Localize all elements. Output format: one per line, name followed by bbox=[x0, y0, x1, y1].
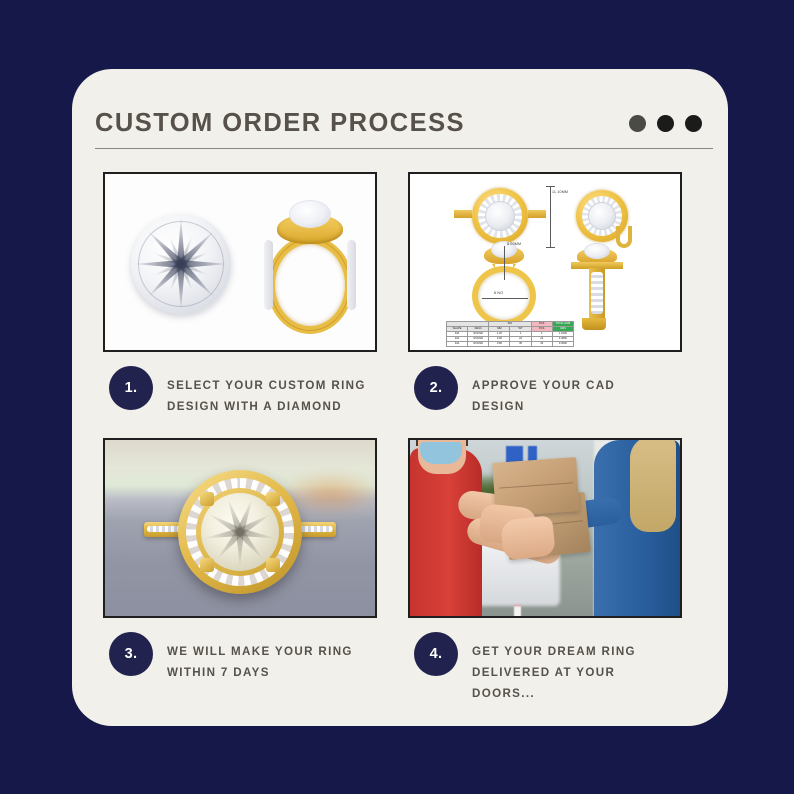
cad-table-row: DIA ROUND 0.80 36 36 0.3600 bbox=[447, 342, 574, 347]
step-2-thumbnail[interactable]: 11.10MM bbox=[408, 172, 682, 352]
cad-design-image: 11.10MM bbox=[410, 174, 680, 350]
step-2-text: APPROVE YOUR CAD DESIGN bbox=[472, 366, 672, 417]
step-2-label-row: 2. APPROVE YOUR CAD DESIGN bbox=[408, 366, 682, 417]
step-4-badge: 4. bbox=[414, 632, 458, 676]
step-4[interactable]: 4. GET YOUR DREAM RING DELIVERED AT YOUR… bbox=[408, 438, 682, 704]
step-1-badge: 1. bbox=[109, 366, 153, 410]
gold-ring-profile-icon bbox=[255, 196, 365, 336]
step-1-label-row: 1. SELECT YOUR CUSTOM RING DESIGN WITH A… bbox=[103, 366, 377, 417]
step-3-thumbnail[interactable] bbox=[103, 438, 377, 618]
window-dot-3-icon[interactable] bbox=[685, 115, 702, 132]
card-header: CUSTOM ORDER PROCESS bbox=[95, 96, 713, 150]
step-1-thumbnail[interactable] bbox=[103, 172, 377, 352]
diamond-and-ring-image bbox=[105, 174, 375, 350]
window-dot-2-icon[interactable] bbox=[657, 115, 674, 132]
window-dot-1-icon[interactable] bbox=[629, 115, 646, 132]
cad-top-view-icon bbox=[472, 188, 528, 244]
step-1[interactable]: 1. SELECT YOUR CUSTOM RING DESIGN WITH A… bbox=[103, 172, 377, 417]
step-3[interactable]: 3. WE WILL MAKE YOUR RING WITHIN 7 DAYS bbox=[103, 438, 377, 704]
cad-dimension-label-3: 8 NO bbox=[494, 291, 503, 295]
cad-front-view-icon bbox=[568, 248, 626, 332]
custom-order-process-card: CUSTOM ORDER PROCESS bbox=[72, 69, 728, 726]
step-4-label-row: 4. GET YOUR DREAM RING DELIVERED AT YOUR… bbox=[408, 632, 682, 704]
cad-dimension-label-1: 11.10MM bbox=[552, 190, 568, 194]
cad-spec-table: DIA PCS TOTAL GMS SHAPE DESC MM WT PCS G… bbox=[446, 321, 574, 347]
cad-dimension-label-2: 8.00MM bbox=[507, 242, 521, 246]
finished-ring-photo bbox=[105, 440, 375, 616]
header-divider bbox=[95, 148, 713, 149]
step-4-text: GET YOUR DREAM RING DELIVERED AT YOUR DO… bbox=[472, 632, 672, 704]
cad-dimension-line-vertical bbox=[550, 186, 551, 248]
window-dots-group bbox=[629, 115, 713, 132]
step-1-text: SELECT YOUR CUSTOM RING DESIGN WITH A DI… bbox=[167, 366, 367, 417]
step-4-thumbnail[interactable] bbox=[408, 438, 682, 618]
customer-hand bbox=[500, 515, 556, 560]
step-3-text: WE WILL MAKE YOUR RING WITHIN 7 DAYS bbox=[167, 632, 367, 683]
loose-diamond-icon bbox=[131, 214, 231, 314]
halo-ring-icon bbox=[178, 470, 302, 594]
page-title: CUSTOM ORDER PROCESS bbox=[95, 109, 465, 138]
step-3-badge: 3. bbox=[109, 632, 153, 676]
delivery-handoff-photo bbox=[410, 440, 680, 616]
steps-grid: 1. SELECT YOUR CUSTOM RING DESIGN WITH A… bbox=[103, 172, 703, 704]
step-2-badge: 2. bbox=[414, 366, 458, 410]
step-2[interactable]: 11.10MM bbox=[408, 172, 682, 417]
step-3-label-row: 3. WE WILL MAKE YOUR RING WITHIN 7 DAYS bbox=[103, 632, 377, 683]
